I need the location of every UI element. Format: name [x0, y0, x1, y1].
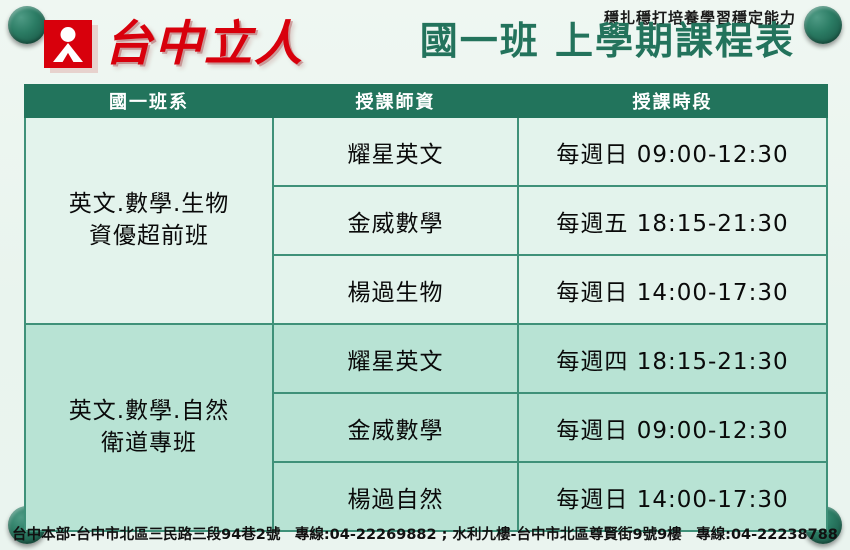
table-header-row: 國一班系 授課師資 授課時段: [25, 85, 827, 117]
column-header-class: 國一班系: [25, 85, 273, 117]
table-row: 英文.數學.自然 衛道專班 耀星英文 每週四 18:15-21:30: [25, 324, 827, 393]
table-row: 英文.數學.生物 資優超前班 耀星英文 每週日 09:00-12:30: [25, 117, 827, 186]
group-name-cell: 英文.數學.自然 衛道專班: [25, 324, 273, 531]
time-cell: 每週日 09:00-12:30: [518, 393, 827, 462]
group-name-cell: 英文.數學.生物 資優超前班: [25, 117, 273, 324]
column-header-teacher: 授課師資: [273, 85, 518, 117]
time-cell: 每週五 18:15-21:30: [518, 186, 827, 255]
teacher-cell: 楊過生物: [273, 255, 518, 324]
person-head-shape: [61, 27, 76, 42]
person-in-square-icon: [44, 20, 92, 68]
time-cell: 每週日 09:00-12:30: [518, 117, 827, 186]
time-cell: 每週日 14:00-17:30: [518, 255, 827, 324]
poster-header: 台中立人 穩扎穩打培養學習穩定能力 國一班 上學期課程表: [0, 0, 850, 84]
time-cell: 每週四 18:15-21:30: [518, 324, 827, 393]
teacher-cell: 耀星英文: [273, 324, 518, 393]
person-body-shape: [53, 43, 83, 62]
teacher-cell: 金威數學: [273, 186, 518, 255]
schedule-table: 國一班系 授課師資 授課時段 英文.數學.生物 資優超前班 耀星英文 每週日 0…: [24, 84, 828, 532]
course-schedule-poster: 台中立人 穩扎穩打培養學習穩定能力 國一班 上學期課程表 國一班系 授課師資 授…: [0, 0, 850, 550]
teacher-cell: 耀星英文: [273, 117, 518, 186]
page-title: 國一班 上學期課程表: [420, 22, 795, 62]
column-header-time: 授課時段: [518, 85, 827, 117]
time-cell: 每週日 14:00-17:30: [518, 462, 827, 531]
brand-name: 台中立人: [104, 20, 304, 68]
teacher-cell: 金威數學: [273, 393, 518, 462]
teacher-cell: 楊過自然: [273, 462, 518, 531]
brand-logo: 台中立人: [44, 20, 304, 68]
contact-footer: 台中本部-台中市北區三民路三段94巷2號 專線:04-22269882 ; 水利…: [0, 523, 850, 544]
